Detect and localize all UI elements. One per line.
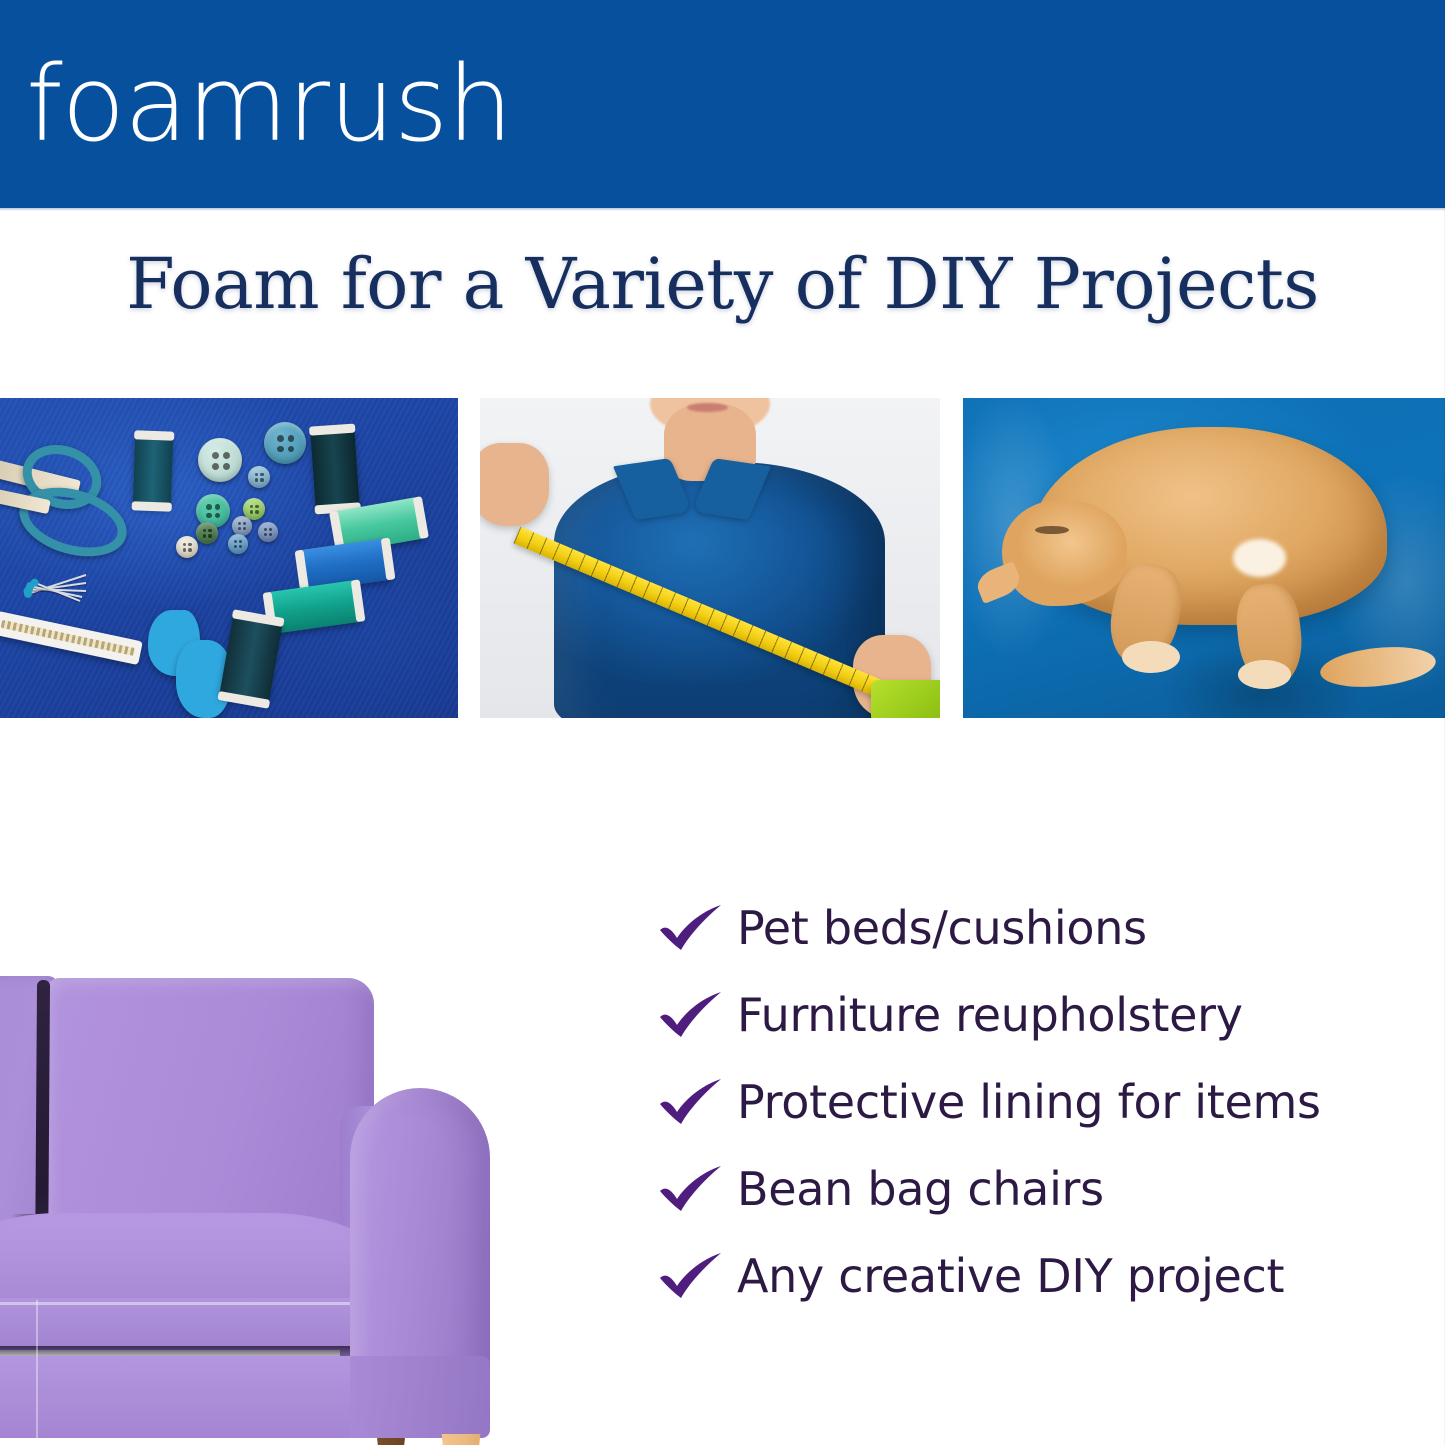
- button-icon: [248, 466, 270, 488]
- check-icon: [655, 900, 727, 956]
- thread-spool-icon: [133, 433, 174, 508]
- button-icon: [176, 536, 198, 558]
- check-icon: [655, 1161, 727, 1217]
- list-item: Pet beds/cushions: [655, 884, 1415, 971]
- list-item-label: Bean bag chairs: [727, 1162, 1104, 1216]
- sofa-leg-front: [440, 1434, 482, 1445]
- list-item-label: Furniture reupholstery: [727, 988, 1243, 1042]
- button-icon: [198, 438, 242, 482]
- sofa-base-skirt-right: [350, 1356, 490, 1438]
- brand-wordmark: foamrush: [26, 52, 512, 156]
- sofa-seat-seam: [0, 1302, 392, 1305]
- list-item-label: Any creative DIY project: [727, 1249, 1284, 1303]
- button-icon: [228, 534, 248, 554]
- photo-tape-measure: [480, 398, 940, 718]
- button-icon: [196, 522, 218, 544]
- list-item: Bean bag chairs: [655, 1145, 1415, 1232]
- check-icon: [655, 1074, 727, 1130]
- check-icon: [655, 987, 727, 1043]
- check-icon: [655, 1248, 727, 1304]
- list-item-label: Pet beds/cushions: [727, 901, 1147, 955]
- sofa-vertical-seam: [36, 1300, 38, 1438]
- photo-sewing-supplies: [0, 398, 458, 718]
- list-item-label: Protective lining for items: [727, 1075, 1321, 1129]
- cat-belly-patch: [1233, 539, 1286, 577]
- list-item: Furniture reupholstery: [655, 971, 1415, 1058]
- hand-left: [480, 443, 549, 526]
- button-icon: [232, 516, 252, 536]
- button-icon: [264, 422, 306, 464]
- button-icon: [258, 522, 278, 542]
- tape-measure-case-icon: [871, 680, 940, 718]
- brand-banner: foamrush: [0, 0, 1445, 208]
- sofa-base-skirt: [0, 1356, 392, 1438]
- benefits-list: Pet beds/cushions Furniture reupholstery…: [655, 884, 1415, 1319]
- list-item: Any creative DIY project: [655, 1232, 1415, 1319]
- page-title: Foam for a Variety of DIY Projects: [0, 243, 1445, 325]
- thread-spool-icon: [310, 427, 360, 512]
- sofa-rolled-arm: [350, 1088, 490, 1393]
- sofa-seat-front: [0, 1298, 392, 1350]
- photo-cat-on-beanbag: [963, 398, 1445, 718]
- lavender-sofa-illustration: [0, 968, 560, 1445]
- cat-head: [1002, 500, 1127, 606]
- cat-hind-paw: [1238, 660, 1291, 689]
- marketing-infographic: foamrush Foam for a Variety of DIY Proje…: [0, 0, 1445, 1445]
- list-item: Protective lining for items: [655, 1058, 1415, 1145]
- cat-front-paw: [1122, 641, 1180, 673]
- banner-divider: [0, 208, 1445, 211]
